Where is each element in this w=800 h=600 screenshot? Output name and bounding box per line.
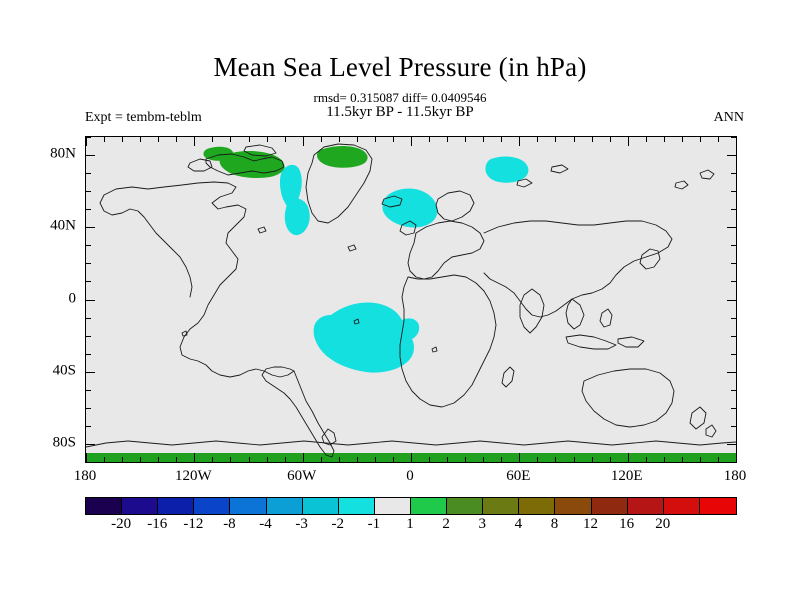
y-tick [86, 281, 91, 282]
colorbar-tick-label: -4 [259, 516, 272, 533]
colorbar-swatch[interactable] [338, 498, 375, 514]
x-tick [122, 457, 123, 462]
x-axis-label: 60E [506, 468, 530, 485]
y-tick [86, 426, 91, 427]
x-tick [501, 457, 502, 462]
y-tick-right [731, 137, 736, 138]
colorbar-tick-label: 16 [619, 516, 634, 533]
x-tick [700, 457, 701, 462]
x-tick [194, 453, 195, 462]
x-tick [267, 457, 268, 462]
x-tick-top [555, 137, 556, 142]
x-axis-label: 120E [611, 468, 643, 485]
x-tick [592, 457, 593, 462]
y-tick-right [727, 300, 736, 301]
x-tick-top [537, 137, 538, 142]
x-tick [465, 457, 466, 462]
x-tick [176, 457, 177, 462]
y-tick [86, 462, 91, 463]
x-tick [285, 457, 286, 462]
x-axis-label: 180 [74, 468, 97, 485]
colorbar-swatch[interactable] [410, 498, 447, 514]
colorbar-swatch[interactable] [482, 498, 519, 514]
anomaly-north-atlantic [314, 303, 420, 373]
colorbar[interactable] [85, 497, 737, 515]
x-tick [375, 457, 376, 462]
x-tick-top [718, 137, 719, 142]
y-tick [86, 263, 91, 264]
x-tick-top [86, 137, 87, 146]
x-tick [429, 457, 430, 462]
y-tick [86, 354, 91, 355]
y-tick-right [727, 372, 736, 373]
x-axis-label: 120W [175, 468, 212, 485]
x-tick [537, 457, 538, 462]
x-tick [610, 457, 611, 462]
y-tick [86, 173, 91, 174]
y-tick-right [731, 281, 736, 282]
x-axis-label: 60W [287, 468, 316, 485]
y-tick [86, 209, 91, 210]
x-tick [628, 453, 629, 462]
x-tick [393, 457, 394, 462]
x-tick-top [574, 137, 575, 142]
x-tick [339, 457, 340, 462]
x-tick-top [194, 137, 195, 146]
y-tick [86, 444, 95, 445]
x-tick-top [447, 137, 448, 142]
colorbar-swatch[interactable] [627, 498, 664, 514]
y-tick [86, 191, 91, 192]
x-tick-top [104, 137, 105, 142]
y-tick-right [731, 462, 736, 463]
colorbar-tick-label: 2 [442, 516, 450, 533]
y-tick [86, 137, 91, 138]
y-axis-label: 80S [28, 434, 76, 451]
x-tick [249, 457, 250, 462]
x-tick-top [682, 137, 683, 142]
colorbar-tick-label: 3 [478, 516, 486, 533]
x-axis-label: 0 [406, 468, 414, 485]
y-tick-right [731, 426, 736, 427]
y-tick [86, 390, 91, 391]
season-label: ANN [714, 110, 744, 126]
colorbar-tick-label: 4 [515, 516, 523, 533]
x-tick-top [592, 137, 593, 142]
x-tick-top [140, 137, 141, 142]
x-tick [321, 457, 322, 462]
colorbar-swatch[interactable] [86, 498, 122, 514]
x-tick [447, 457, 448, 462]
anomaly-barents-sea [485, 157, 528, 183]
x-tick-top [230, 137, 231, 142]
colorbar-swatch[interactable] [446, 498, 483, 514]
x-tick-top [357, 137, 358, 142]
x-tick-top [429, 137, 430, 142]
colorbar-tick-label: -2 [332, 516, 345, 533]
x-tick [718, 457, 719, 462]
colorbar-tick-label: -8 [223, 516, 236, 533]
colorbar-swatch[interactable] [518, 498, 555, 514]
colorbar-swatch[interactable] [699, 498, 736, 514]
x-tick-top [176, 137, 177, 142]
y-axis-label: 80N [28, 146, 76, 163]
anomaly-fills [86, 146, 736, 462]
experiment-label: Expt = tembm-teblm [85, 110, 202, 126]
colorbar-swatch[interactable] [374, 498, 411, 514]
x-tick [411, 453, 412, 462]
y-tick [86, 300, 95, 301]
x-tick [104, 457, 105, 462]
y-tick-right [731, 173, 736, 174]
y-tick-right [731, 245, 736, 246]
colorbar-tick-label: -20 [111, 516, 131, 533]
x-tick [230, 457, 231, 462]
x-tick-top [393, 137, 394, 142]
y-axis-label: 40N [28, 218, 76, 235]
colorbar-swatch[interactable] [302, 498, 339, 514]
x-tick-top [339, 137, 340, 142]
y-axis-label: 40S [28, 362, 76, 379]
x-tick [736, 453, 737, 462]
x-tick-top [321, 137, 322, 142]
x-tick-top [465, 137, 466, 142]
x-tick [664, 457, 665, 462]
x-tick-top [664, 137, 665, 142]
y-tick-right [731, 354, 736, 355]
y-tick [86, 245, 91, 246]
x-tick-top [700, 137, 701, 142]
x-tick-top [736, 137, 737, 146]
colorbar-swatch[interactable] [591, 498, 628, 514]
y-axis-label: 0 [28, 290, 76, 307]
colorbar-swatch[interactable] [663, 498, 700, 514]
x-tick-top [212, 137, 213, 142]
y-tick-right [731, 263, 736, 264]
x-tick-top [122, 137, 123, 142]
y-tick [86, 372, 95, 373]
colorbar-swatch[interactable] [193, 498, 230, 514]
x-tick-top [249, 137, 250, 142]
statistics-line: rmsd= 0.315087 diff= 0.0409546 [0, 90, 800, 105]
x-tick-top [628, 137, 629, 146]
x-tick [646, 457, 647, 462]
figure-canvas: Mean Sea Level Pressure (in hPa) rmsd= 0… [0, 0, 800, 600]
anomaly-norwegian-sea [382, 189, 437, 228]
y-tick-right [727, 227, 736, 228]
x-tick-top [610, 137, 611, 142]
x-tick-top [501, 137, 502, 142]
x-tick-top [483, 137, 484, 142]
page-title: Mean Sea Level Pressure (in hPa) [0, 52, 800, 82]
x-tick-top [411, 137, 412, 146]
colorbar-tick-label: -3 [295, 516, 308, 533]
y-tick [86, 318, 91, 319]
x-tick-top [303, 137, 304, 146]
x-tick [555, 457, 556, 462]
world-map [86, 137, 736, 462]
y-tick-right [727, 155, 736, 156]
x-tick [212, 457, 213, 462]
colorbar-tick-label: -16 [147, 516, 167, 533]
colorbar-tick-label: 1 [406, 516, 414, 533]
colorbar-swatch[interactable] [229, 498, 266, 514]
x-axis-label: 180 [724, 468, 747, 485]
y-tick [86, 408, 91, 409]
x-tick [158, 457, 159, 462]
anomaly-greenland [317, 146, 368, 168]
y-tick-right [731, 191, 736, 192]
x-tick [519, 453, 520, 462]
colorbar-tick-label: 20 [655, 516, 670, 533]
x-tick [357, 457, 358, 462]
colorbar-swatch[interactable] [554, 498, 591, 514]
x-tick-top [519, 137, 520, 146]
anomaly-davis-strait [285, 198, 310, 235]
y-tick-right [731, 336, 736, 337]
x-tick-top [285, 137, 286, 142]
y-tick-right [731, 318, 736, 319]
y-tick [86, 155, 95, 156]
x-tick [682, 457, 683, 462]
x-tick [140, 457, 141, 462]
x-tick [574, 457, 575, 462]
x-tick [86, 453, 87, 462]
x-tick-top [158, 137, 159, 142]
colorbar-swatch[interactable] [121, 498, 158, 514]
x-tick-top [646, 137, 647, 142]
y-tick [86, 336, 91, 337]
colorbar-tick-label: 12 [583, 516, 598, 533]
x-tick [303, 453, 304, 462]
y-tick-right [731, 408, 736, 409]
colorbar-swatch[interactable] [157, 498, 194, 514]
colorbar-swatch[interactable] [266, 498, 303, 514]
y-tick-right [731, 209, 736, 210]
x-tick [483, 457, 484, 462]
x-tick-top [267, 137, 268, 142]
colorbar-tick-label: 8 [551, 516, 559, 533]
colorbar-tick-label: -1 [368, 516, 381, 533]
colorbar-tick-label: -12 [183, 516, 203, 533]
map-plot-area [85, 136, 737, 463]
y-tick-right [727, 444, 736, 445]
y-tick [86, 227, 95, 228]
y-tick-right [731, 390, 736, 391]
x-tick-top [375, 137, 376, 142]
